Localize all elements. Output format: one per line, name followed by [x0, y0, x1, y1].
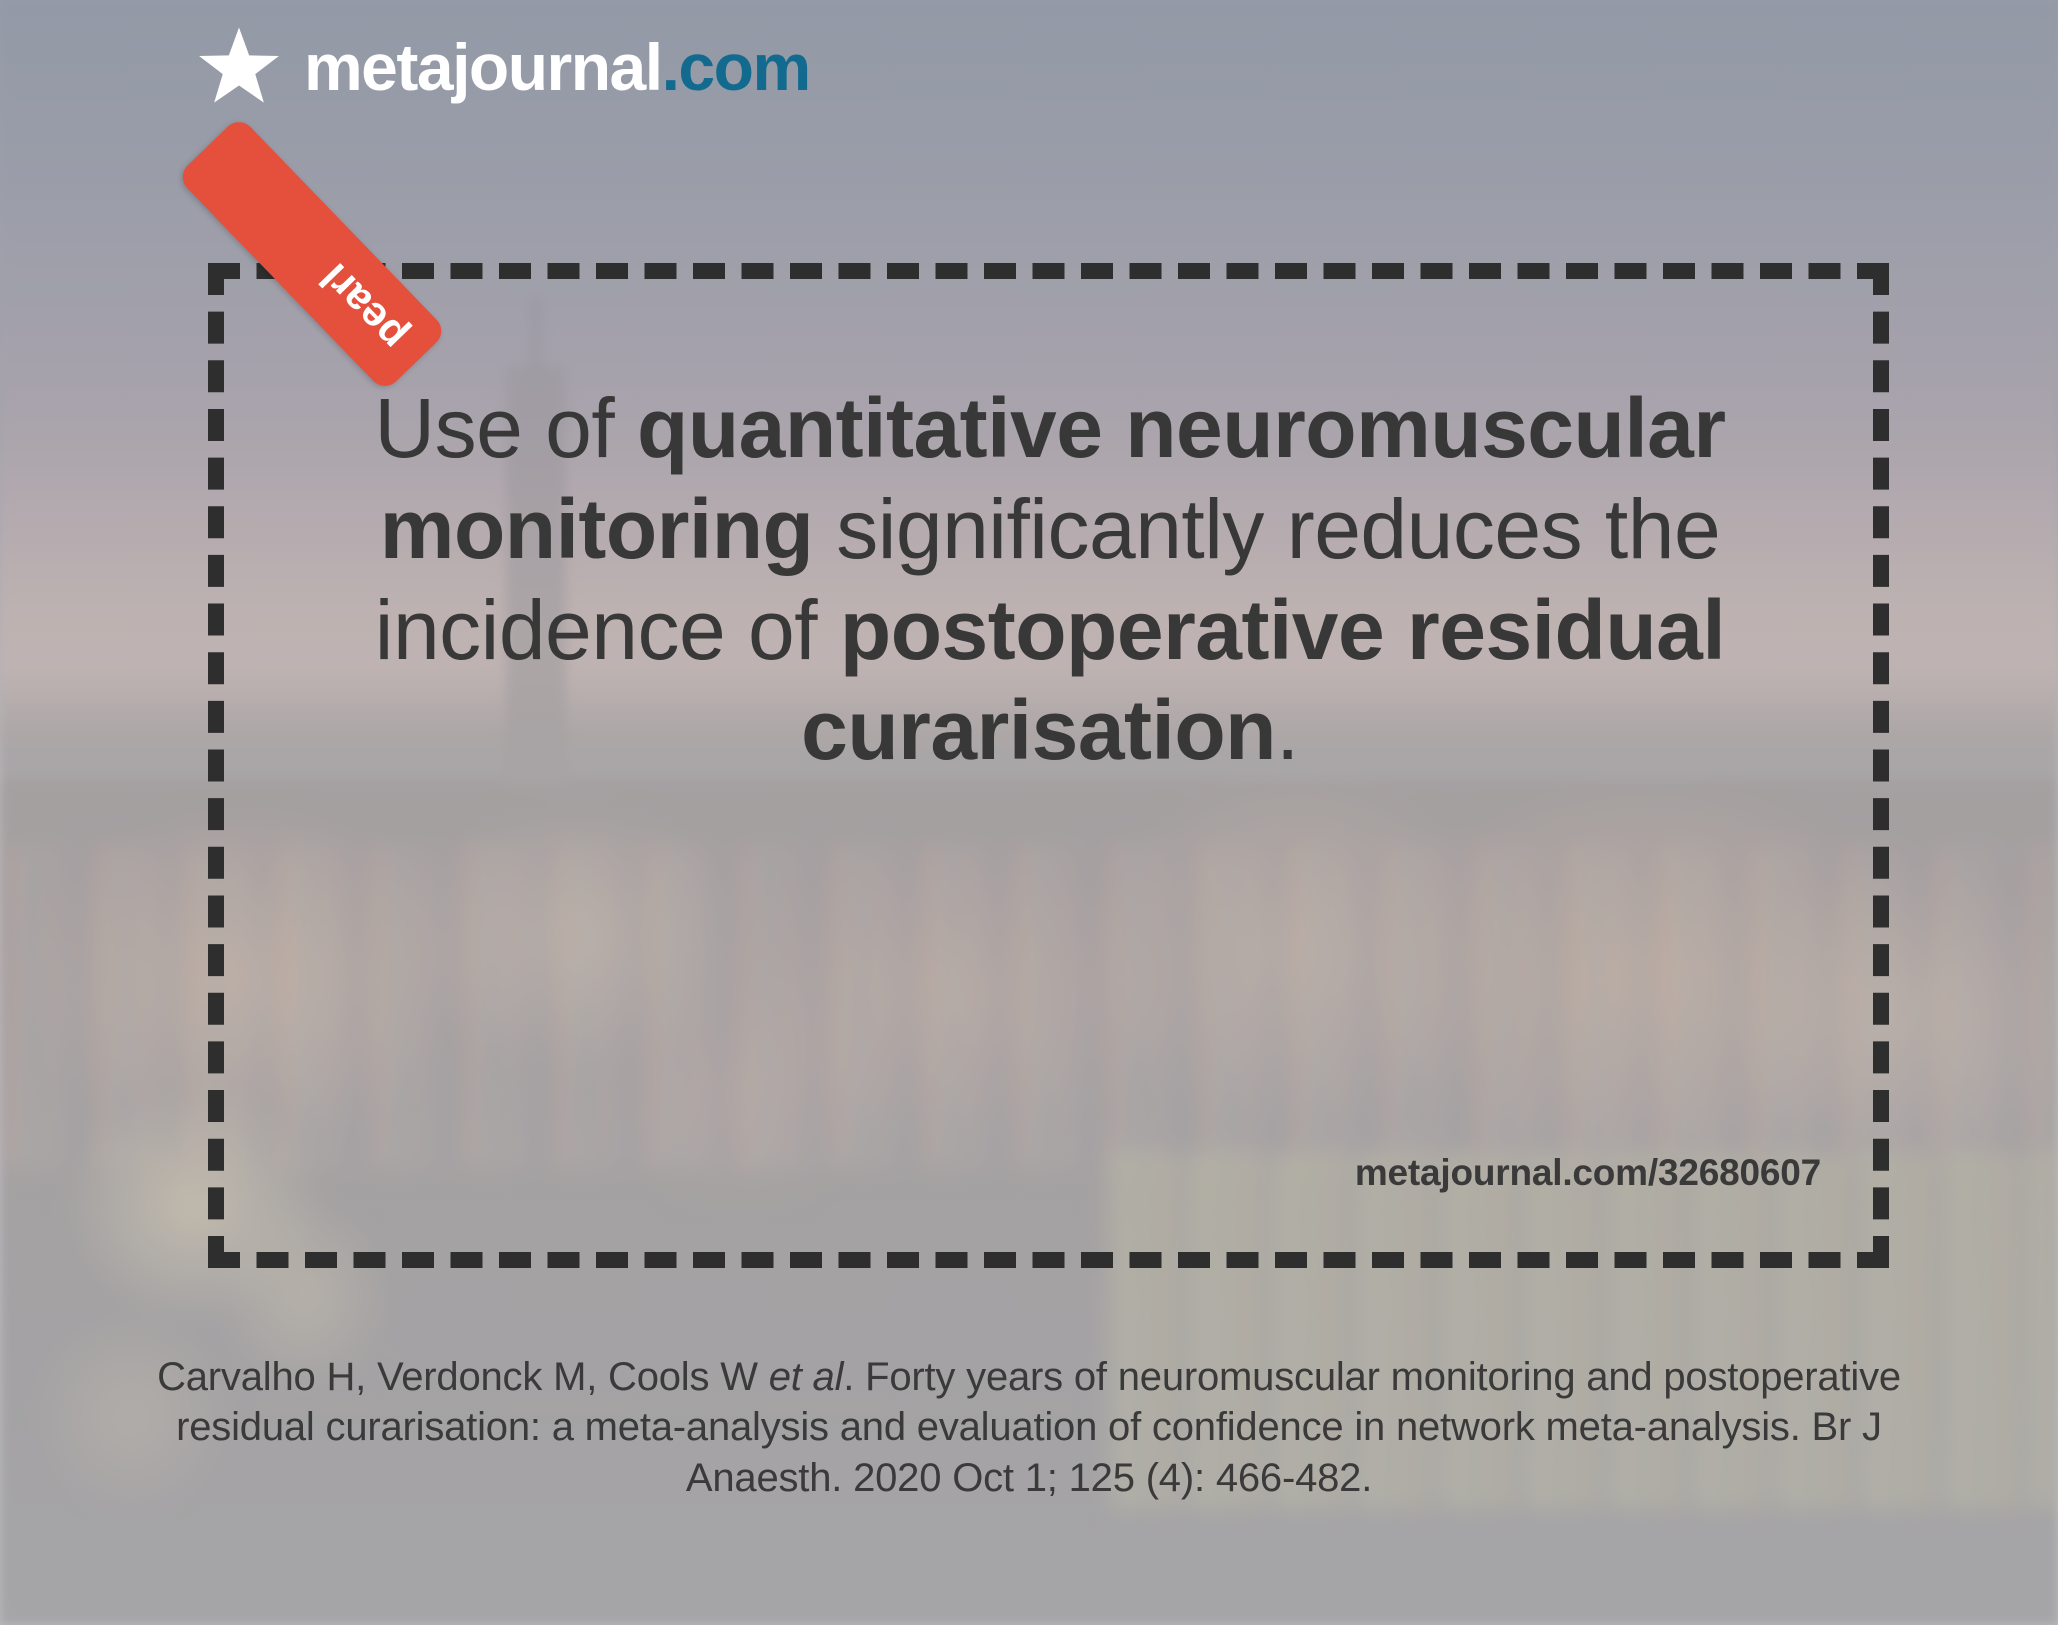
citation-pages: 466-482. [1216, 1456, 1372, 1500]
citation: Carvalho H, Verdonck M, Cools W et al. F… [129, 1352, 1929, 1503]
star-icon [196, 24, 282, 110]
brand-wordmark: metajournal.com [304, 34, 810, 100]
headline-segment-bold-2: postoperative residual curarisation [801, 583, 1725, 778]
citation-date: 2020 Oct 1; [853, 1456, 1058, 1500]
pearl-headline: Use of quantitative neuromuscular monito… [300, 378, 1800, 781]
brand-tld: .com [662, 30, 810, 104]
citation-issue: (4): [1146, 1456, 1205, 1500]
brand-logo[interactable]: metajournal.com [196, 24, 810, 110]
source-link[interactable]: metajournal.com/32680607 [1355, 1152, 1821, 1194]
pearl-card: metajournal.com pearl Use of quantitativ… [0, 0, 2058, 1625]
citation-et-al: et al [769, 1355, 844, 1399]
citation-authors: Carvalho H, Verdonck M, Cools W [157, 1355, 758, 1399]
citation-volume: 125 [1069, 1456, 1135, 1500]
brand-name: metajournal [304, 30, 662, 104]
headline-segment-plain-3: . [1276, 683, 1299, 777]
headline-segment-plain-1: Use of [374, 381, 637, 475]
